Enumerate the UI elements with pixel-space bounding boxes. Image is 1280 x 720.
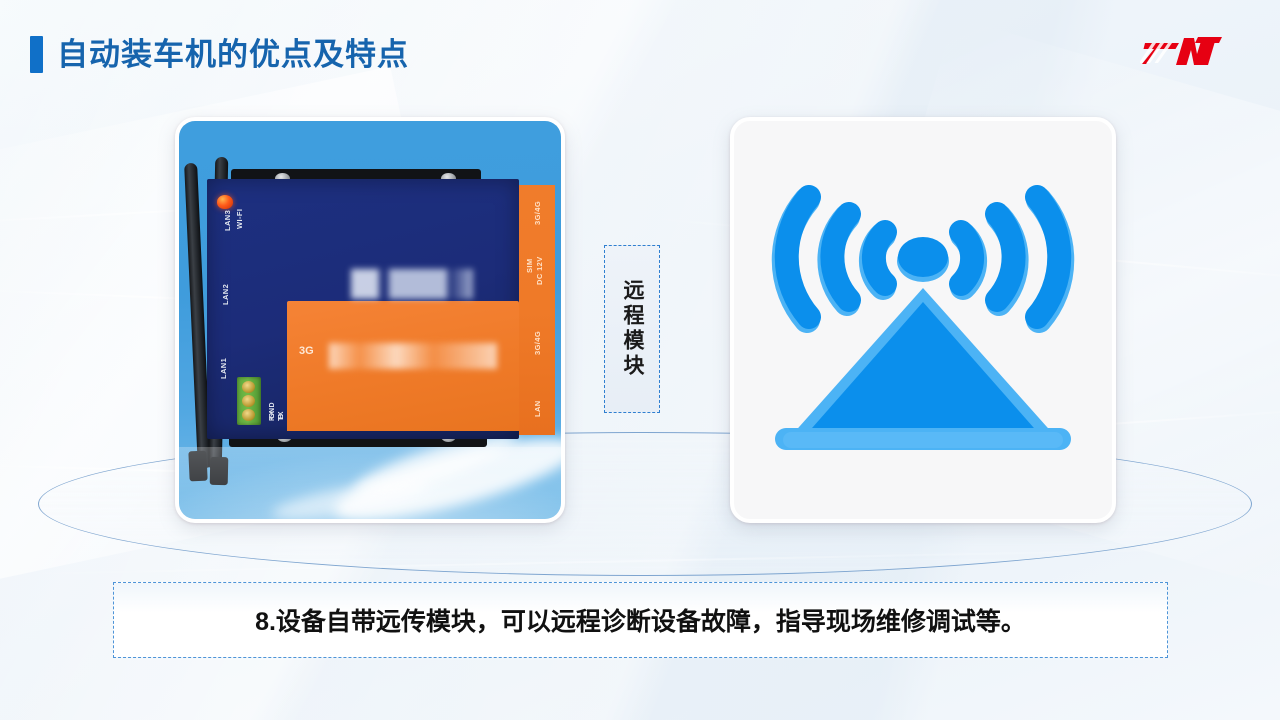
port-label-lan3: LAN3 <box>223 185 232 231</box>
port-label-3g4g-bottom: 3G/4G <box>533 317 542 355</box>
antenna-base <box>188 451 207 482</box>
port-label-lan1: LAN1 <box>219 333 228 379</box>
remote-module-label-text: 远程模块 <box>621 279 643 379</box>
remote-module-label: 远程模块 <box>604 245 660 413</box>
page-title: 自动装车机的优点及特点 <box>30 36 409 73</box>
slide-header: 自动装车机的优点及特点 <box>0 0 1280 98</box>
screw-terminal-block <box>237 377 261 425</box>
terminal-screw <box>242 409 255 421</box>
port-label-lan2: LAN2 <box>221 259 230 305</box>
title-accent-bar <box>30 36 43 73</box>
panel-text-3g: 3G <box>299 345 314 357</box>
antenna-base <box>210 457 229 485</box>
caption-box: 8.设备自带远传模块，可以远程诊断设备故障，指导现场维修调试等。 <box>113 582 1168 658</box>
caption-text: 8.设备自带远传模块，可以远程诊断设备故障，指导现场维修调试等。 <box>255 602 1026 638</box>
device-photo-card: WI-FI LAN3 LAN2 LAN1 GND B RX TX 3G 3G/4… <box>175 117 565 523</box>
terminal-screw <box>242 381 255 393</box>
port-label-3g4g-top: 3G/4G <box>533 187 542 225</box>
blurred-model-text <box>329 343 497 369</box>
slide-canvas: 自动装车机的优点及特点 <box>0 0 1280 720</box>
port-label-sim: SIM <box>525 247 534 273</box>
wireless-signal-tower-icon <box>763 160 1083 480</box>
terminal-label-tx: TX <box>278 397 285 421</box>
device-photo: WI-FI LAN3 LAN2 LAN1 GND B RX TX 3G 3G/4… <box>179 121 561 519</box>
port-label-lan: LAN <box>533 387 542 417</box>
port-label-dc12v: DC 12V <box>535 243 544 285</box>
company-logo <box>1140 32 1232 74</box>
terminal-label-rx: RX <box>269 397 276 421</box>
terminal-screw <box>242 395 255 407</box>
wireless-icon-card <box>730 117 1116 523</box>
port-label-wifi: WI-FI <box>235 183 244 229</box>
title-label: 自动装车机的优点及特点 <box>57 39 409 70</box>
blurred-brand-mark <box>351 269 473 299</box>
